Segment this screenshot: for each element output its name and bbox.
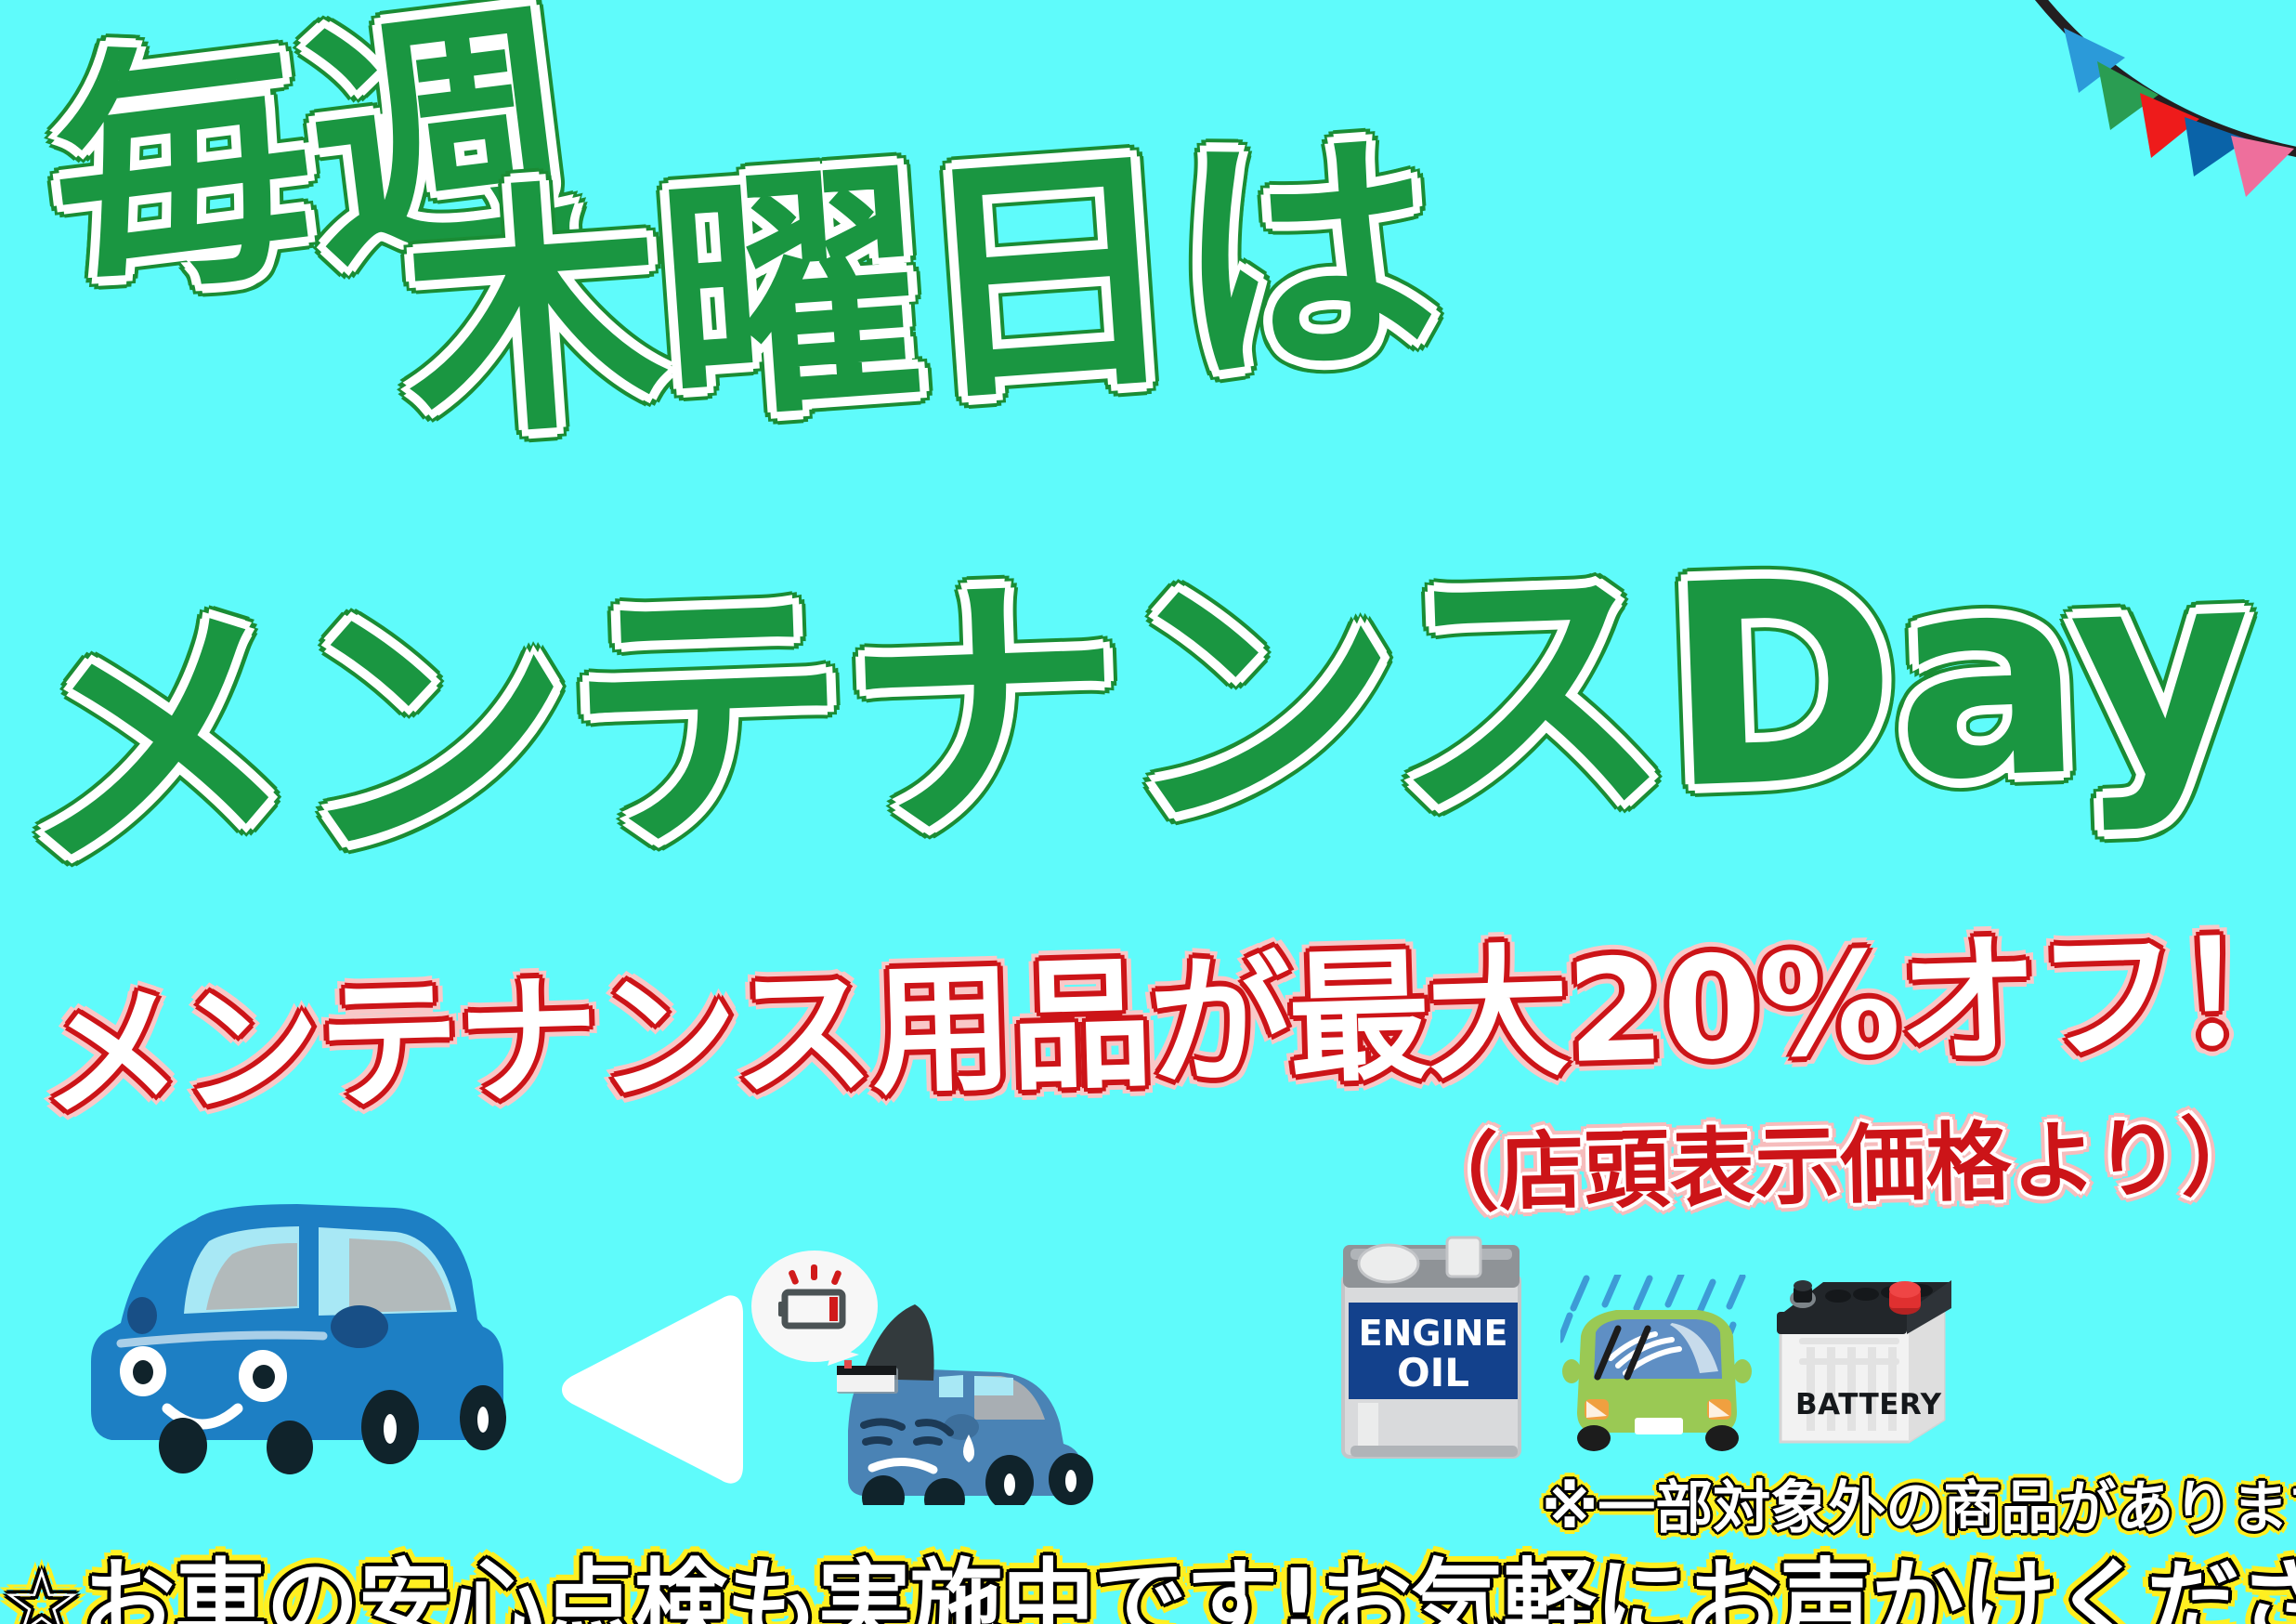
wiper-car-rain-icon bbox=[1560, 1275, 1765, 1474]
battery-illustration: BATTERY bbox=[1769, 1265, 1969, 1464]
inspection-banner: ☆お車の安心点検も実施中です!お気軽にお声かけください☆ bbox=[0, 1527, 2296, 1624]
arrow-left-icon bbox=[557, 1291, 743, 1486]
sad-car-battery-warning-icon bbox=[748, 1236, 1101, 1505]
smiling-car-icon bbox=[84, 1197, 511, 1494]
battery-label: BATTERY bbox=[1795, 1388, 1942, 1421]
car-battery-icon: BATTERY bbox=[1769, 1265, 1969, 1460]
happy-car-illustration bbox=[84, 1197, 511, 1498]
oil-label-line2: OIL bbox=[1397, 1350, 1469, 1395]
sad-car-illustration bbox=[748, 1236, 1101, 1509]
headline-line-2: 木曜日は bbox=[390, 40, 1443, 488]
maintenance-day-poster: 毎週 木曜日は メンテナンスDay メンテナンス用品が最大20%オフ！ （店頭表… bbox=[0, 0, 2296, 1624]
headline-line-3: メンテナンスDay bbox=[9, 442, 2255, 923]
engine-oil-illustration: ENGINE OIL bbox=[1337, 1236, 1533, 1467]
headline-block: 毎週 木曜日は メンテナンスDay bbox=[0, 0, 2296, 910]
arrow-left-illustration bbox=[557, 1291, 743, 1490]
sale-price-note: （店頭表示価格より） bbox=[1412, 1088, 2267, 1229]
oil-label-line1: ENGINE bbox=[1359, 1313, 1508, 1354]
rain-car-illustration bbox=[1560, 1275, 1765, 1478]
engine-oil-can-icon: ENGINE OIL bbox=[1337, 1236, 1533, 1463]
